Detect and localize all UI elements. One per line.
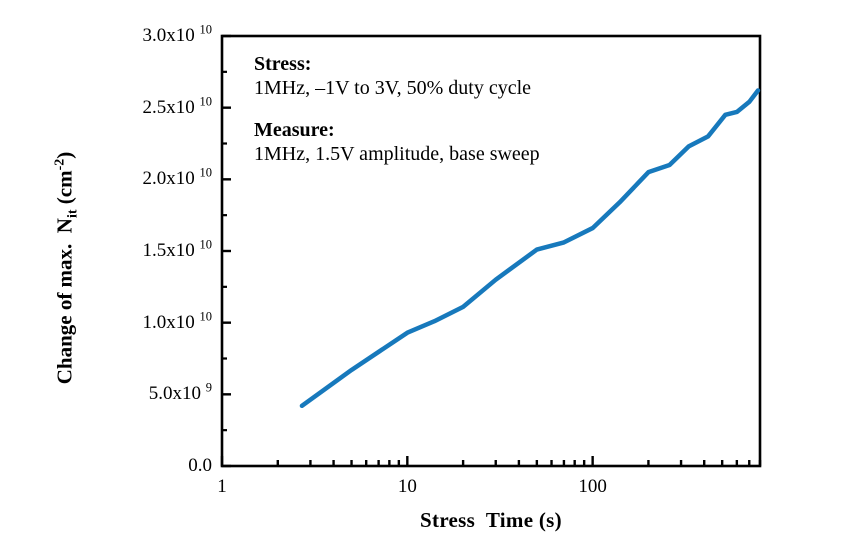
annotation-stress-heading: Stress: xyxy=(254,52,540,76)
annotation-measure-heading: Measure: xyxy=(254,118,540,142)
annotation-spacer xyxy=(254,101,540,118)
y-axis-title-subscript: it xyxy=(66,209,81,218)
annotation-stress-detail: 1MHz, –1V to 3V, 50% duty cycle xyxy=(254,76,540,100)
y-axis-title-exponent: -2 xyxy=(53,159,68,171)
annotation-block: Stress: 1MHz, –1V to 3V, 50% duty cycle … xyxy=(254,52,540,167)
x-axis-ticks xyxy=(222,456,760,466)
y-axis-title-text: Change of max. N xyxy=(53,218,77,384)
y-axis-title-unit-open: (cm xyxy=(53,170,77,209)
x-axis-title: Stress Time (s) xyxy=(222,508,760,533)
chart-canvas: 3.0x10 102.5x10 102.0x10 101.5x10 101.0x… xyxy=(0,0,845,557)
y-axis-title-unit-close: ) xyxy=(53,152,77,159)
y-axis-ticks xyxy=(222,36,231,466)
y-axis-title: Change of max. Nit (cm-2) xyxy=(28,64,103,494)
annotation-measure-detail: 1MHz, 1.5V amplitude, base sweep xyxy=(254,142,540,166)
